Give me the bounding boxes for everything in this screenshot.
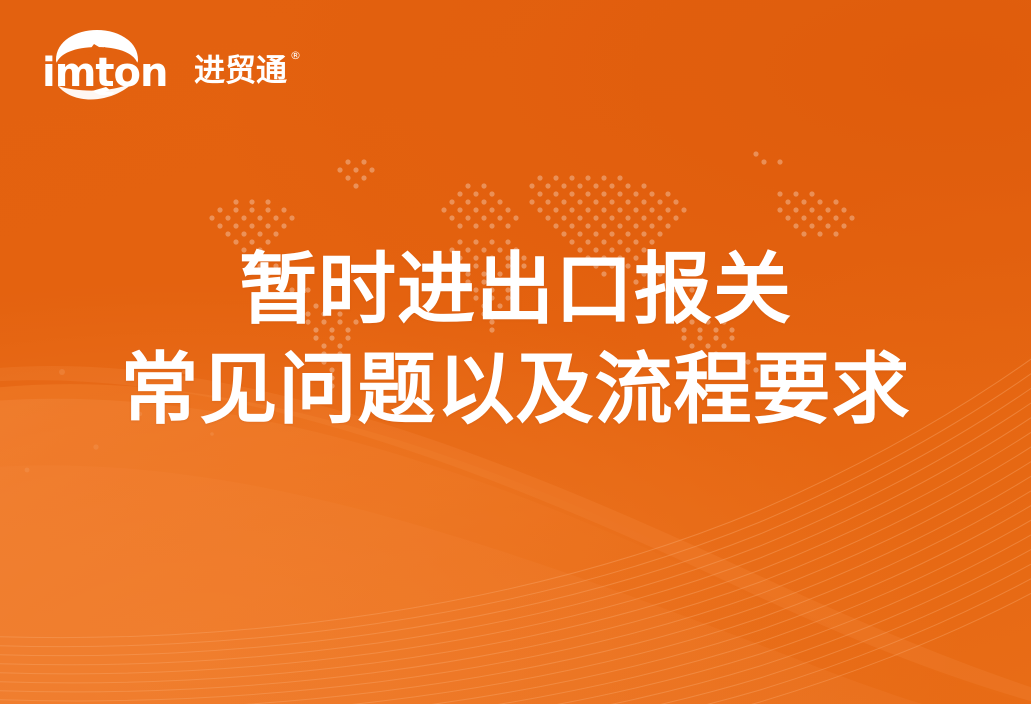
registered-trademark-icon: ® bbox=[290, 50, 301, 61]
brand-logo[interactable]: imton 进贸通 ® bbox=[42, 28, 287, 100]
title-line-2: 常见问题以及流程要求 bbox=[0, 340, 1031, 440]
brand-chinese-name: 进贸通 ® bbox=[194, 56, 287, 87]
title-line-1: 暂时进出口报关 bbox=[0, 240, 1031, 340]
imton-wordmark: imton bbox=[42, 28, 194, 100]
cover-slide: imton 进贸通 ® 暂时进出口报关 常见问题以及流程要求 bbox=[0, 0, 1031, 704]
svg-text:imton: imton bbox=[42, 50, 167, 96]
brand-chinese-text: 进贸通 bbox=[194, 53, 287, 89]
slide-title: 暂时进出口报关 常见问题以及流程要求 bbox=[0, 240, 1031, 440]
